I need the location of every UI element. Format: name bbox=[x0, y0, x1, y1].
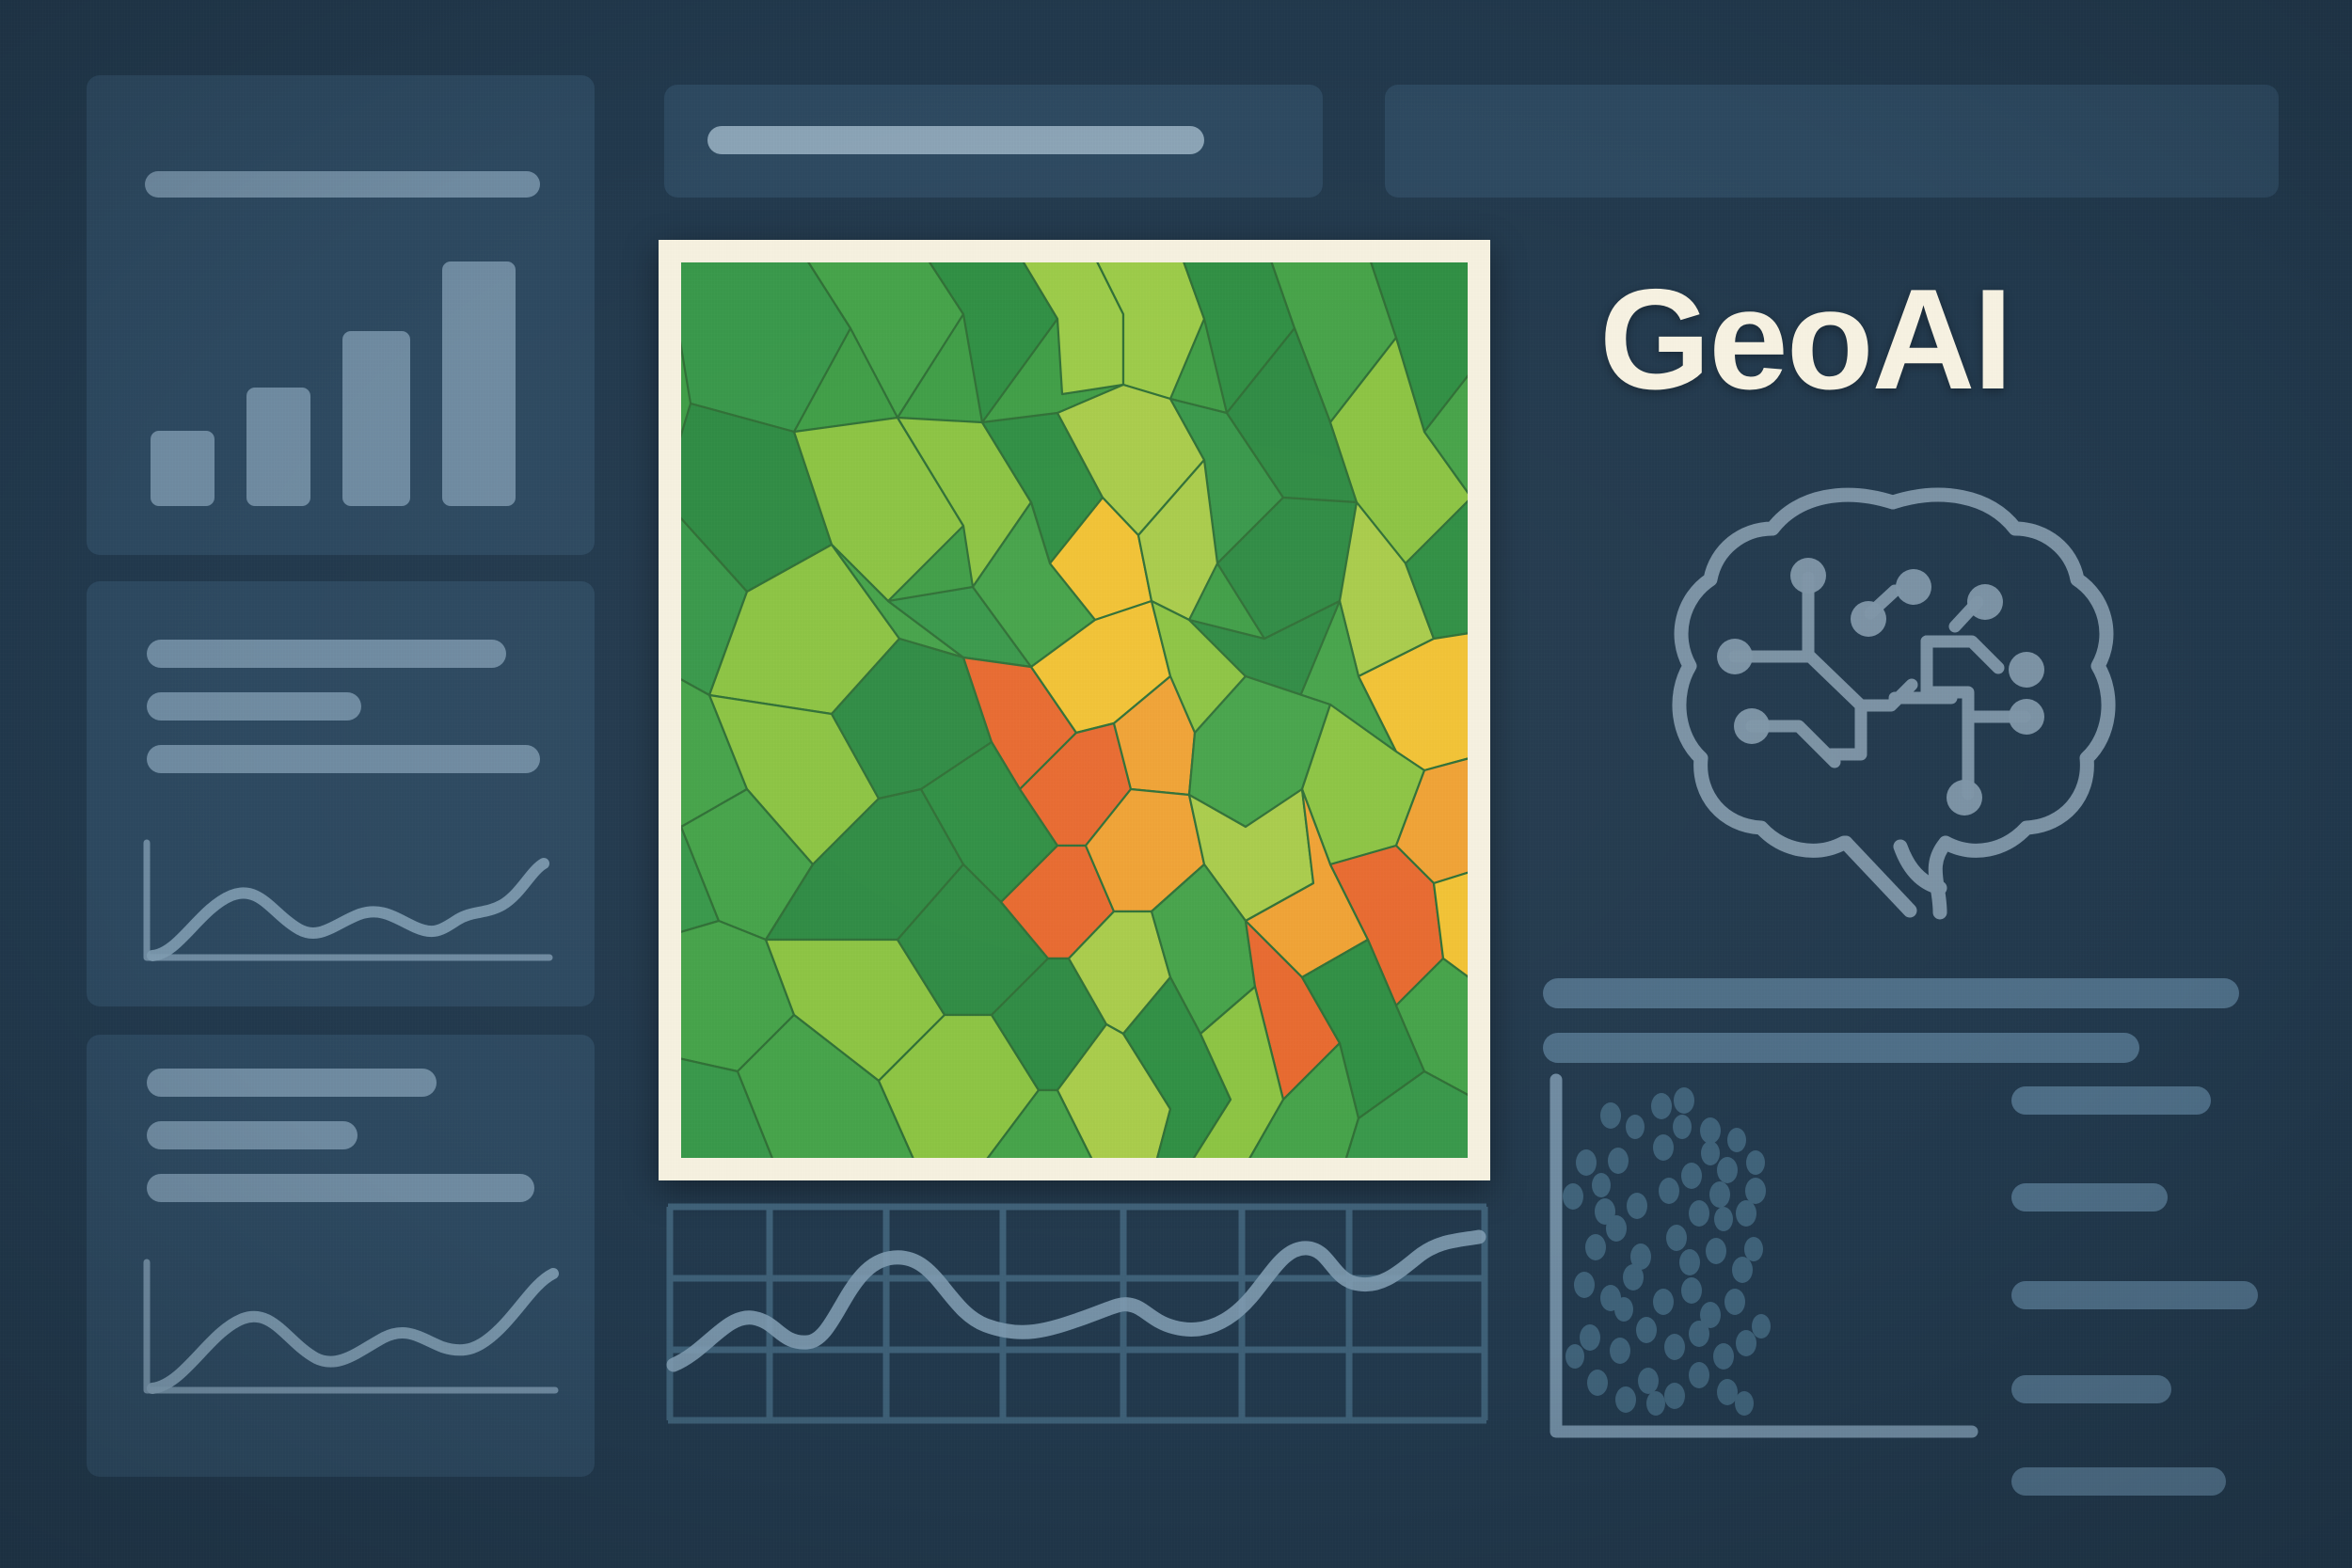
text-line-1 bbox=[147, 640, 506, 668]
trend-card-bottom[interactable] bbox=[87, 1035, 595, 1477]
legend-bar-5[interactable] bbox=[2011, 1467, 2226, 1496]
map-canvas[interactable] bbox=[681, 262, 1468, 1158]
header-panel-right[interactable] bbox=[1385, 85, 2279, 198]
text-line-3 bbox=[147, 1174, 534, 1202]
page-title: GeoAI bbox=[1599, 268, 2011, 411]
bar-chart-bar-3 bbox=[342, 331, 410, 506]
legend-bar-3[interactable] bbox=[2011, 1281, 2258, 1309]
line-chart-top bbox=[141, 837, 555, 969]
header-title-bar bbox=[707, 126, 1204, 154]
header-panel-left[interactable] bbox=[664, 85, 1323, 198]
brain-circuit-icon bbox=[1658, 470, 2128, 922]
choropleth-map[interactable] bbox=[659, 240, 1490, 1180]
metrics-card[interactable] bbox=[87, 75, 595, 555]
text-line-2 bbox=[147, 692, 361, 721]
section-subtitle-bar bbox=[1543, 1033, 2139, 1063]
bar-chart-bar-4 bbox=[442, 261, 516, 506]
legend-bar-4[interactable] bbox=[2011, 1375, 2171, 1403]
map-polygons bbox=[681, 262, 1468, 1158]
bottom-grid-line-chart[interactable] bbox=[659, 1199, 1496, 1434]
line-chart-bottom bbox=[141, 1257, 564, 1407]
text-line-2 bbox=[147, 1121, 358, 1149]
trend-card-top[interactable] bbox=[87, 581, 595, 1006]
bottom-right-scatter[interactable] bbox=[1543, 1072, 1985, 1449]
text-line-3 bbox=[147, 745, 540, 773]
bar-chart-bar-1 bbox=[151, 431, 215, 506]
section-title-bar bbox=[1543, 978, 2239, 1008]
card-title-bar bbox=[145, 171, 540, 198]
text-line-1 bbox=[147, 1069, 437, 1097]
legend-bar-1[interactable] bbox=[2011, 1086, 2211, 1115]
legend-bar-2[interactable] bbox=[2011, 1183, 2168, 1212]
bar-chart-bar-2 bbox=[246, 388, 310, 506]
